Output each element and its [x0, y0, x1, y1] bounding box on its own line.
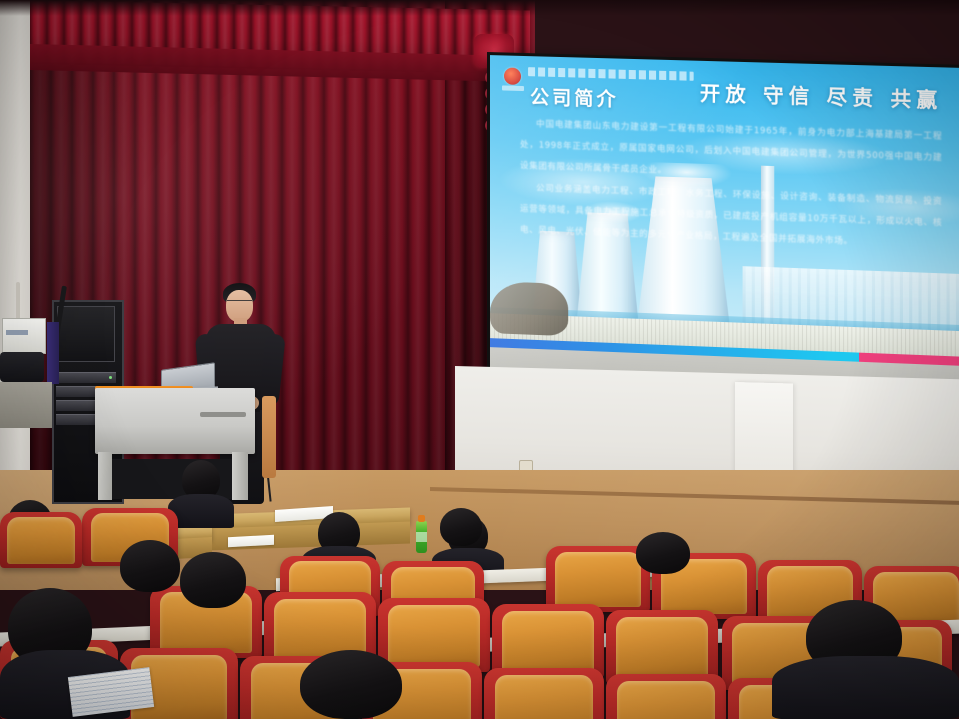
glasses-icon [227, 300, 252, 306]
auditorium-scene: 公司简介 开放 守信 尽责 共赢 中国电建集团山东电力建设第一工程有限公司始建于… [0, 0, 959, 719]
presentation-slide: 公司简介 开放 守信 尽责 共赢 中国电建集团山东电力建设第一工程有限公司始建于… [490, 55, 959, 366]
attendee-head [440, 508, 482, 546]
blue-binder [47, 322, 59, 384]
company-logo-icon [504, 67, 521, 84]
seat-cushion [388, 605, 480, 667]
foreground-rock [490, 281, 568, 336]
slide-paragraph: 公司业务涵盖电力工程、市政工程、水务工程、环保设施、设计咨询、装备制造、物流贸易… [520, 179, 942, 256]
seat-cushion [617, 681, 715, 719]
status-led-icon [109, 376, 112, 379]
lectern [95, 388, 255, 454]
attendee-head [636, 532, 690, 574]
attendee-shoulders [772, 656, 959, 719]
projection-screen: 公司简介 开放 守信 尽责 共赢 中国电建集团山东电力建设第一工程有限公司始建于… [487, 52, 959, 402]
bottle-cap [418, 515, 425, 522]
seat-cushion [616, 617, 708, 679]
auditorium-seat[interactable] [606, 674, 726, 719]
company-logo-subtext [502, 85, 524, 91]
podium-leg [98, 452, 112, 500]
stage-chair [262, 396, 276, 478]
white-equipment-box [2, 318, 46, 354]
seat-cushion [502, 611, 594, 673]
podium-leg [232, 452, 248, 500]
box-label [6, 330, 28, 335]
attendee-head [180, 552, 246, 608]
auditorium-seat[interactable] [492, 604, 604, 678]
bag [0, 352, 44, 382]
seat-cushion [7, 517, 74, 564]
auditorium-seat[interactable] [606, 610, 718, 684]
slide-title: 公司简介 [530, 82, 619, 112]
equipment-cart [0, 382, 52, 428]
attendee-head [300, 650, 402, 719]
auditorium-seat[interactable] [484, 668, 604, 719]
screen-surface: 公司简介 开放 守信 尽责 共赢 中国电建集团山东电力建设第一工程有限公司始建于… [490, 55, 959, 399]
rack-unit [56, 372, 116, 383]
speaker-cabinet [57, 306, 115, 362]
slide-paragraph: 中国电建集团山东电力建设第一工程有限公司始建于1965年，前身为电力部上海基建局… [520, 114, 942, 190]
bottle-label [416, 532, 427, 542]
company-name-banner [528, 67, 694, 81]
seat-cushion [555, 552, 640, 607]
auditorium-seat[interactable] [378, 598, 490, 672]
ceiling-shadow [0, 0, 959, 16]
seat-cushion [495, 675, 593, 719]
podium-slot [200, 412, 246, 417]
auditorium-seat[interactable] [0, 512, 82, 568]
auditorium-seat[interactable] [546, 546, 650, 612]
attendee-head [120, 540, 180, 592]
slide-body-text: 中国电建集团山东电力建设第一工程有限公司始建于1965年，前身为电力部上海基建局… [520, 114, 942, 258]
